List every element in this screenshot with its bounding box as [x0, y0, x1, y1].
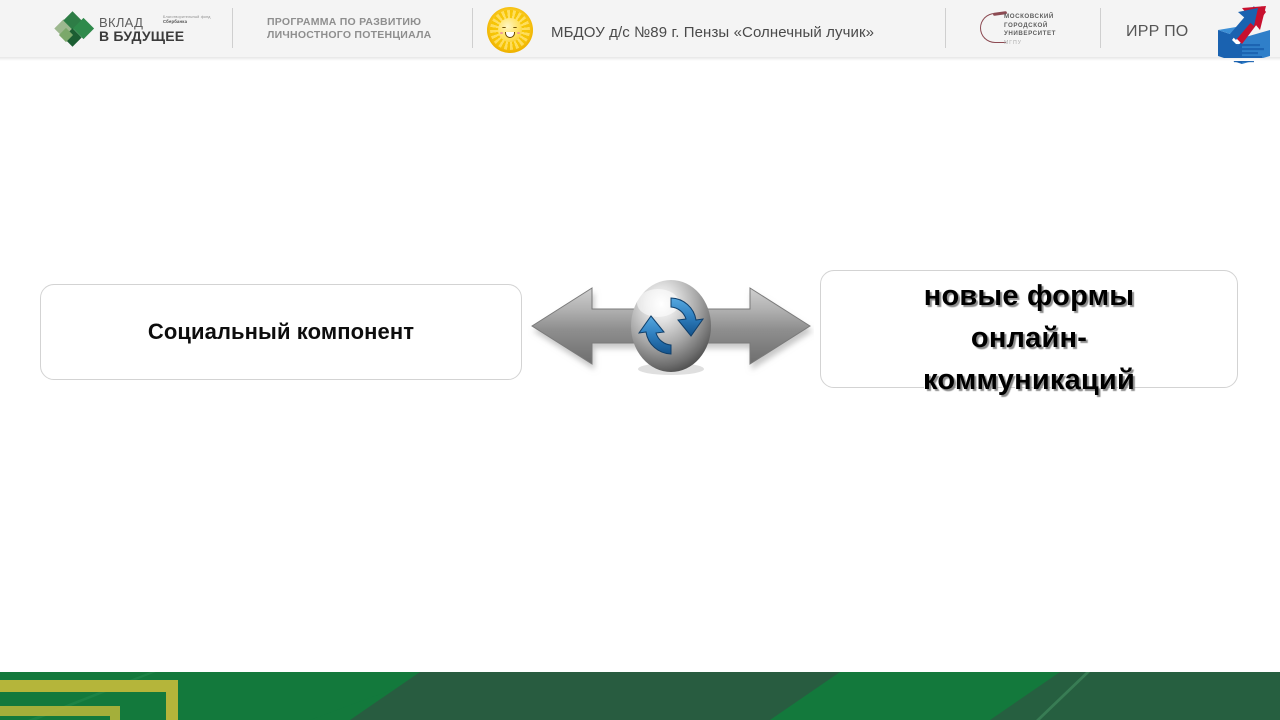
- diagram-node-left-label: Социальный компонент: [41, 319, 521, 345]
- diagram-node-right-label-line2: онлайн-: [821, 317, 1237, 359]
- double-headed-arrow-with-sync-sphere-icon: [528, 276, 814, 376]
- diagram-node-right-label: новые формы онлайн- коммуникаций: [821, 275, 1237, 401]
- logo-vklad-line2: В БУДУЩЕЕ: [99, 29, 184, 44]
- logo-mgpu-line4: МГПУ: [1004, 39, 1082, 48]
- header-divider-4: [1100, 8, 1101, 48]
- diagram-node-online-communication-forms[interactable]: новые формы онлайн- коммуникаций: [820, 270, 1238, 388]
- irr-po-label: ИРР ПО: [1126, 23, 1188, 41]
- diagram-node-right-label-line1: новые формы: [821, 275, 1237, 317]
- logo-mgpu-text: МОСКОВСКИЙ ГОРОДСКОЙ УНИВЕРСИТЕТ МГПУ: [1004, 13, 1082, 47]
- diagram-node-right-label-line3: коммуникаций: [821, 359, 1237, 401]
- logo-vklad-subtext: Благотворительный фонд Сбербанка: [163, 15, 223, 24]
- logo-mgpu-line1: МОСКОВСКИЙ: [1004, 13, 1082, 22]
- double-headed-arrow-icon: [528, 276, 814, 376]
- book-arrow-logo-icon: [1212, 0, 1276, 66]
- logo-mgpu-line2: ГОРОДСКОЙ: [1004, 22, 1082, 31]
- slide-header: ВКЛАД В БУДУЩЕЕ Благотворительный фонд С…: [0, 0, 1280, 58]
- header-divider-3: [945, 8, 946, 48]
- footer-decoration: [0, 672, 1280, 720]
- header-divider-1: [232, 8, 233, 48]
- smiling-sun-icon: [487, 7, 533, 53]
- logo-program-line1: ПРОГРАММА ПО РАЗВИТИЮ: [267, 16, 467, 29]
- logo-vklad-v-budushee: ВКЛАД В БУДУЩЕЕ Благотворительный фонд С…: [55, 11, 220, 47]
- kindergarten-name: МБДОУ д/с №89 г. Пензы «Солнечный лучик»: [551, 24, 874, 41]
- logo-vklad-subtext-brand: Сбербанка: [163, 19, 187, 24]
- logo-mgpu-line3: УНИВЕРСИТЕТ: [1004, 30, 1082, 39]
- logo-moscow-city-university: МОСКОВСКИЙ ГОРОДСКОЙ УНИВЕРСИТЕТ МГПУ: [980, 10, 1080, 50]
- sync-sphere: [631, 280, 711, 375]
- slide-footer: [0, 672, 1280, 720]
- logo-program-line2: ЛИЧНОСТНОГО ПОТЕНЦИАЛА: [267, 29, 467, 42]
- green-rhombus-logo-icon: [55, 11, 97, 47]
- diagram-node-social-component[interactable]: Социальный компонент: [40, 284, 522, 380]
- arc-logo-icon: [980, 13, 1006, 43]
- header-divider-2: [472, 8, 473, 48]
- logo-programma-lichnostnogo-potenciala: ПРОГРАММА ПО РАЗВИТИЮ ЛИЧНОСТНОГО ПОТЕНЦ…: [267, 16, 467, 41]
